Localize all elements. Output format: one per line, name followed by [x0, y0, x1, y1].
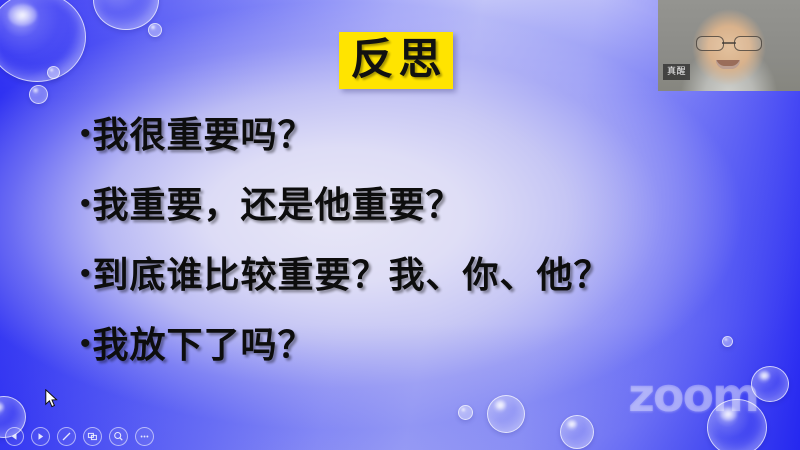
pen-icon [61, 431, 72, 442]
list-item: • 我很重要吗？ [80, 108, 770, 178]
page-title: 反思 [346, 39, 447, 82]
bullet-text: 我放下了吗？ [93, 318, 315, 372]
bullet-marker-icon: • [80, 178, 91, 230]
bullet-text: 我重要，还是他重要？ [93, 178, 463, 232]
next-slide-button[interactable] [31, 427, 50, 446]
participant-video-thumbnail[interactable]: 真醒 [658, 0, 800, 91]
presentation-screen: 反思 • 我很重要吗？ • 我重要，还是他重要？ • 到底谁比较重要？我、你、他… [0, 0, 800, 450]
zoom-watermark: zoom [628, 368, 758, 422]
slide-title-box: 反思 [339, 32, 453, 89]
bullet-list: • 我很重要吗？ • 我重要，还是他重要？ • 到底谁比较重要？我、你、他？ •… [80, 108, 770, 388]
triangle-left-icon [10, 432, 19, 441]
participant-name-label: 真醒 [663, 64, 690, 80]
annotation-pen-button[interactable] [57, 427, 76, 446]
magnifier-icon [113, 431, 124, 442]
glasses-icon [696, 36, 762, 49]
bubble-decoration [487, 395, 525, 433]
bubble-decoration [560, 415, 594, 449]
triangle-right-icon [36, 432, 45, 441]
all-slides-button[interactable] [83, 427, 102, 446]
bubble-decoration [29, 85, 48, 104]
face-mouth [716, 60, 740, 69]
previous-slide-button[interactable] [5, 427, 24, 446]
bullet-marker-icon: • [80, 108, 91, 160]
ellipsis-icon [139, 431, 150, 442]
mouse-cursor [45, 389, 58, 408]
bullet-marker-icon: • [80, 248, 91, 300]
bubble-decoration [148, 23, 162, 37]
bullet-text: 到底谁比较重要？我、你、他？ [93, 248, 611, 302]
list-item: • 到底谁比较重要？我、你、他？ [80, 248, 770, 318]
list-item: • 我重要，还是他重要？ [80, 178, 770, 248]
bubble-decoration [47, 66, 60, 79]
zoom-in-button[interactable] [109, 427, 128, 446]
bullet-marker-icon: • [80, 318, 91, 370]
more-options-button[interactable] [135, 427, 154, 446]
bubble-decoration [458, 405, 473, 420]
grid-slides-icon [87, 431, 98, 442]
bullet-text: 我很重要吗？ [93, 108, 315, 162]
slideshow-toolbar[interactable] [5, 427, 154, 446]
